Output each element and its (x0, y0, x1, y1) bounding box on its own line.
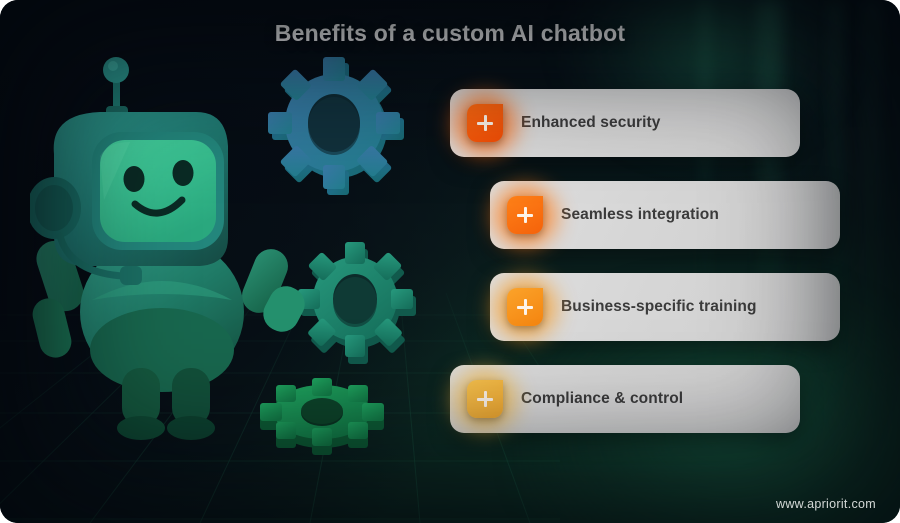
benefit-card-enhanced-security[interactable]: Enhanced security (450, 89, 800, 157)
benefit-label: Business-specific training (561, 298, 757, 316)
plus-glyph (477, 391, 493, 407)
plus-icon[interactable] (507, 196, 543, 234)
card-icon-wrap (467, 104, 503, 142)
plus-icon[interactable] (507, 288, 543, 326)
plus-icon[interactable] (467, 380, 503, 418)
plus-glyph (517, 299, 533, 315)
benefits-list: Enhanced security Seamless integration B… (0, 0, 900, 523)
plus-icon[interactable] (467, 104, 503, 142)
infographic-canvas: Benefits of a custom AI chatbot (0, 0, 900, 523)
card-icon-wrap (507, 196, 543, 234)
benefit-card-business-specific-training[interactable]: Business-specific training (490, 273, 840, 341)
plus-glyph (517, 207, 533, 223)
website-watermark: www.apriorit.com (776, 497, 876, 511)
benefit-label: Compliance & control (521, 390, 683, 408)
benefit-card-compliance-control[interactable]: Compliance & control (450, 365, 800, 433)
plus-glyph (477, 115, 493, 131)
card-icon-wrap (507, 288, 543, 326)
benefit-card-seamless-integration[interactable]: Seamless integration (490, 181, 840, 249)
card-icon-wrap (467, 380, 503, 418)
benefit-label: Enhanced security (521, 114, 661, 132)
benefit-label: Seamless integration (561, 206, 719, 224)
